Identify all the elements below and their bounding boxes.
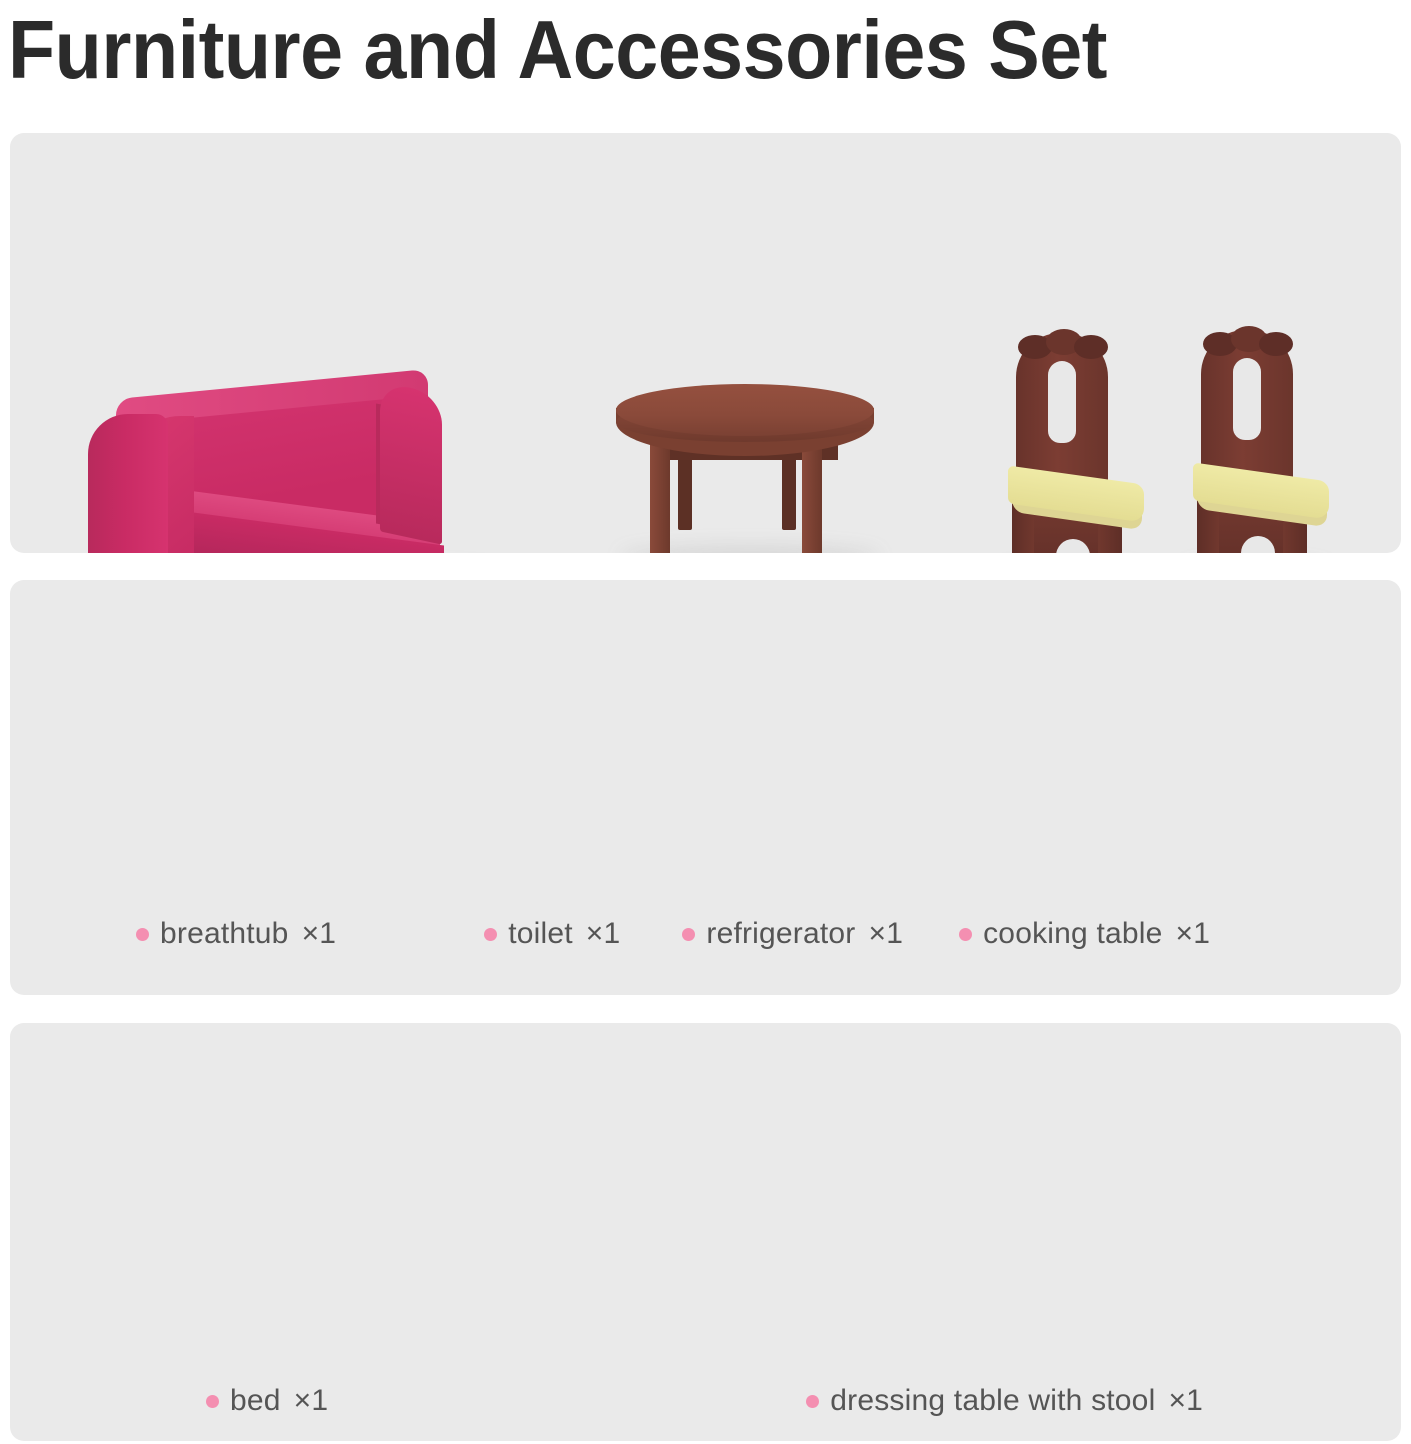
label-row-bath-and-kitchen: breathtub ×1 toilet ×1 refrigerator ×1 c… <box>10 908 1401 960</box>
item-quantity-toilet: ×1 <box>586 917 621 951</box>
bullet-dot-icon <box>136 928 149 941</box>
chair-2-keyhole-cutout <box>1233 358 1261 440</box>
bullet-dot-icon <box>682 928 695 941</box>
item-name-cooking-table: cooking table <box>983 917 1162 951</box>
product-panel-living-room: sofa ×1 table ×1 chairs ×2 <box>10 133 1401 553</box>
item-label-refrigerator: refrigerator ×1 <box>682 917 903 951</box>
item-quantity-refrigerator: ×1 <box>869 917 904 951</box>
item-quantity-breathtub: ×1 <box>302 917 337 951</box>
page-title: Furniture and Accessories Set <box>8 2 1305 98</box>
chair-1-crown-right <box>1074 335 1108 359</box>
item-label-bed: bed ×1 <box>206 1384 328 1418</box>
bullet-dot-icon <box>959 928 972 941</box>
product-panel-bath-and-kitchen: breathtub ×1 toilet ×1 refrigerator ×1 c… <box>10 580 1401 995</box>
sofa-image <box>80 376 520 553</box>
item-label-dressing-table-with-stool: dressing table with stool ×1 <box>806 1384 1203 1418</box>
chair-image-2 <box>1183 330 1333 553</box>
label-row-bedroom: bed ×1 dressing table with stool ×1 <box>10 1375 1401 1427</box>
sofa-right-armrest <box>380 381 442 544</box>
item-quantity-dressing-table-with-stool: ×1 <box>1168 1384 1203 1418</box>
item-name-dressing-table-with-stool: dressing table with stool <box>830 1384 1155 1418</box>
sofa-left-armrest <box>88 414 168 553</box>
bullet-dot-icon <box>806 1395 819 1408</box>
table-leg-front-left <box>650 440 670 553</box>
chair-image-1 <box>998 333 1148 553</box>
table-leg-front-right <box>802 440 822 553</box>
table-image <box>610 378 890 553</box>
item-label-toilet: toilet ×1 <box>484 917 620 951</box>
product-panel-bedroom: bed ×1 dressing table with stool ×1 <box>10 1023 1401 1441</box>
bullet-dot-icon <box>484 928 497 941</box>
chair-1-keyhole-cutout <box>1048 361 1076 443</box>
chair-2-crown-right <box>1259 332 1293 356</box>
item-name-bed: bed <box>230 1384 281 1418</box>
item-quantity-cooking-table: ×1 <box>1176 917 1211 951</box>
table-top-surface <box>616 384 874 436</box>
item-label-breathtub: breathtub ×1 <box>136 917 336 951</box>
item-name-refrigerator: refrigerator <box>706 917 855 951</box>
item-quantity-bed: ×1 <box>294 1384 329 1418</box>
bullet-dot-icon <box>206 1395 219 1408</box>
item-label-cooking-table: cooking table ×1 <box>959 917 1210 951</box>
item-name-toilet: toilet <box>508 917 573 951</box>
item-name-breathtub: breathtub <box>160 917 289 951</box>
